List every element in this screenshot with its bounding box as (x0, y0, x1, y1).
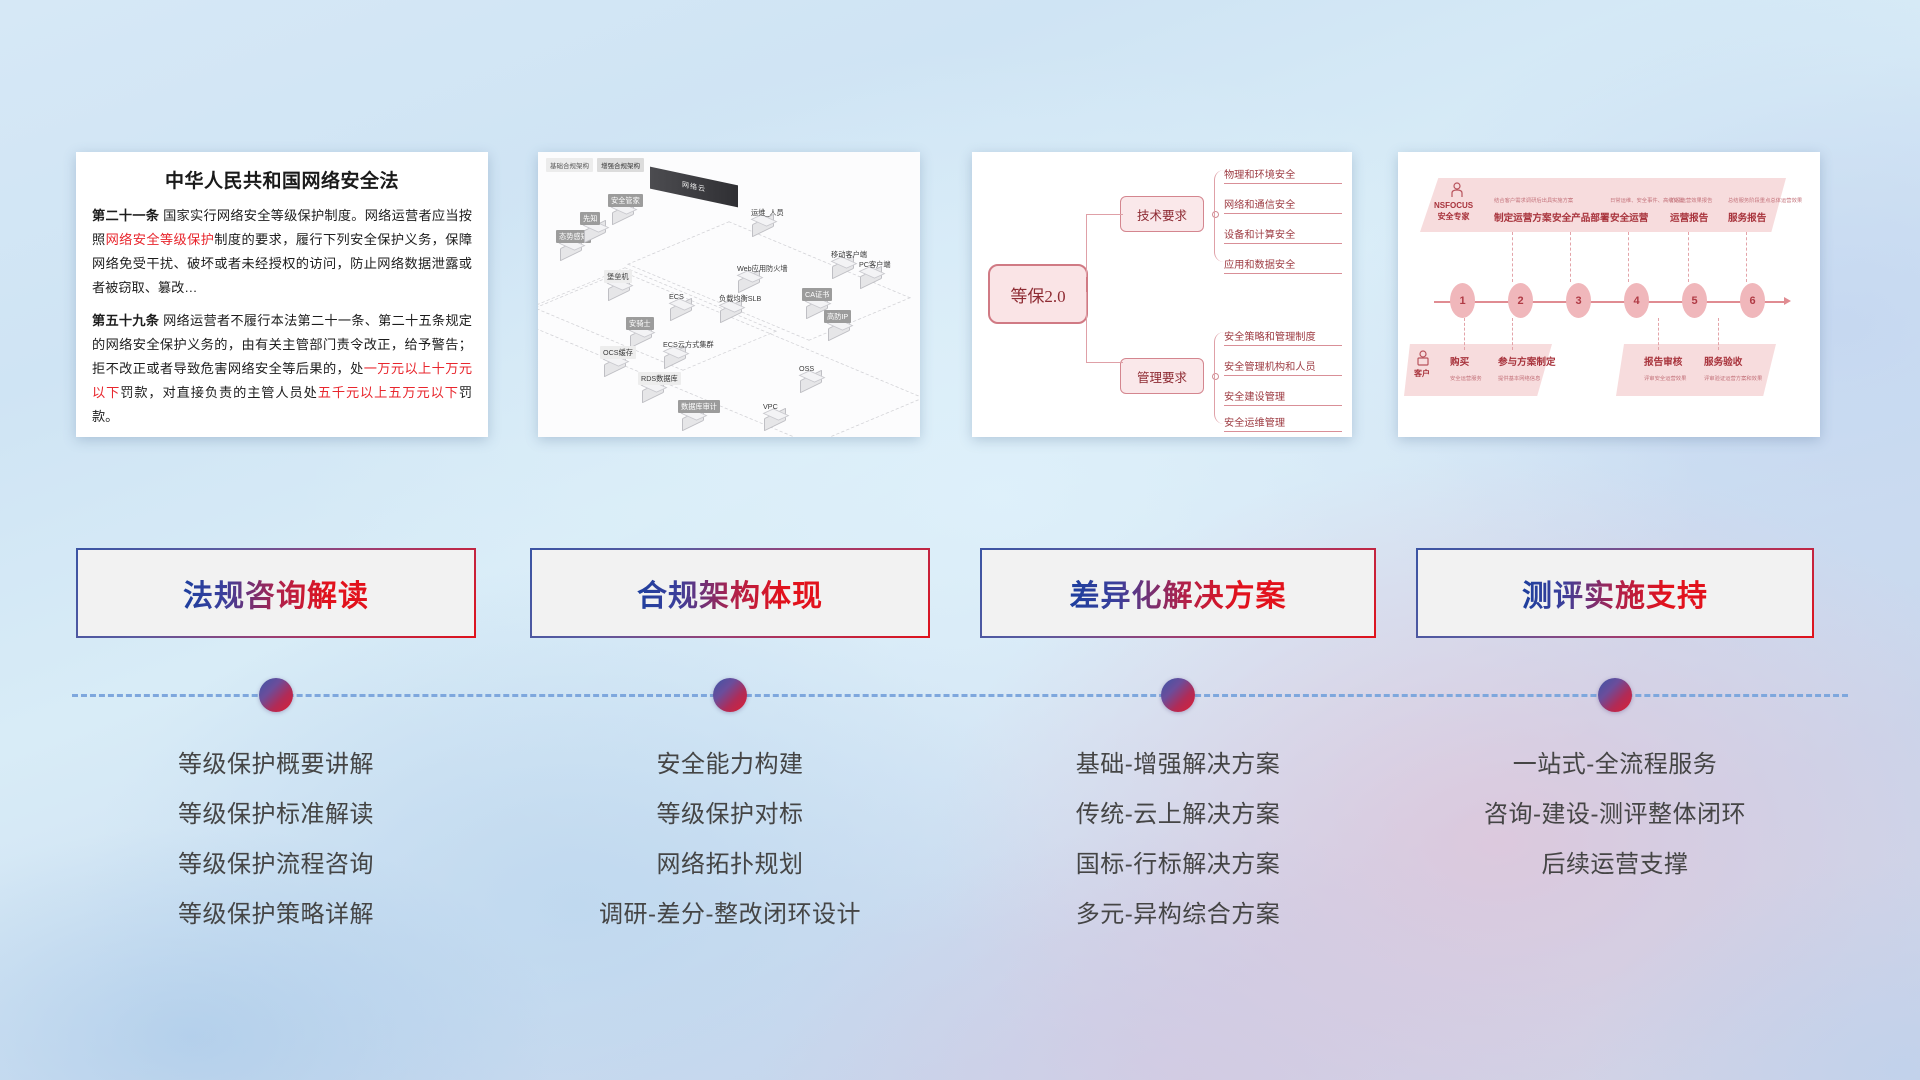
header-box-4-face: 测评实施支持 (1418, 550, 1812, 636)
list-item: 网络拓扑规划 (530, 840, 930, 890)
header-box-4-label: 测评实施支持 (1522, 571, 1708, 615)
list-item: 调研-差分-整改闭环设计 (530, 890, 930, 940)
header-box-4[interactable]: 测评实施支持 (1416, 548, 1814, 638)
list-item: 国标-行标解决方案 (980, 840, 1376, 890)
timeline-dot-2[interactable] (713, 678, 747, 712)
list-item: 等级保护流程咨询 (76, 840, 476, 890)
column-list-3: 基础-增强解决方案 传统-云上解决方案 国标-行标解决方案 多元-异构综合方案 (980, 740, 1376, 940)
list-item: 等级保护策略详解 (76, 890, 476, 940)
column-list-1: 等级保护概要讲解 等级保护标准解读 等级保护流程咨询 等级保护策略详解 (76, 740, 476, 940)
list-item: 一站式-全流程服务 (1416, 740, 1814, 790)
column-list-2: 安全能力构建 等级保护对标 网络拓扑规划 调研-差分-整改闭环设计 (530, 740, 930, 940)
header-box-3-face: 差异化解决方案 (982, 550, 1374, 636)
list-item: 等级保护标准解读 (76, 790, 476, 840)
list-item: 安全能力构建 (530, 740, 930, 790)
timeline-dot-3[interactable] (1161, 678, 1195, 712)
list-item: 后续运营支撑 (1416, 840, 1814, 890)
timeline (0, 680, 1920, 740)
header-box-1-label: 法规咨询解读 (183, 571, 369, 615)
header-box-2-label: 合规架构体现 (637, 571, 823, 615)
list-item: 多元-异构综合方案 (980, 890, 1376, 940)
list-item: 基础-增强解决方案 (980, 740, 1376, 790)
header-box-1-face: 法规咨询解读 (78, 550, 474, 636)
header-box-2-face: 合规架构体现 (532, 550, 928, 636)
list-item: 传统-云上解决方案 (980, 790, 1376, 840)
timeline-dot-4[interactable] (1598, 678, 1632, 712)
column-list-4: 一站式-全流程服务 咨询-建设-测评整体闭环 后续运营支撑 (1416, 740, 1814, 890)
header-box-1[interactable]: 法规咨询解读 (76, 548, 476, 638)
header-box-2[interactable]: 合规架构体现 (530, 548, 930, 638)
list-item: 等级保护对标 (530, 790, 930, 840)
list-item: 等级保护概要讲解 (76, 740, 476, 790)
list-item: 咨询-建设-测评整体闭环 (1416, 790, 1814, 840)
timeline-dashed-line (72, 694, 1848, 697)
header-box-3[interactable]: 差异化解决方案 (980, 548, 1376, 638)
header-box-3-label: 差异化解决方案 (1070, 571, 1287, 615)
timeline-dot-1[interactable] (259, 678, 293, 712)
